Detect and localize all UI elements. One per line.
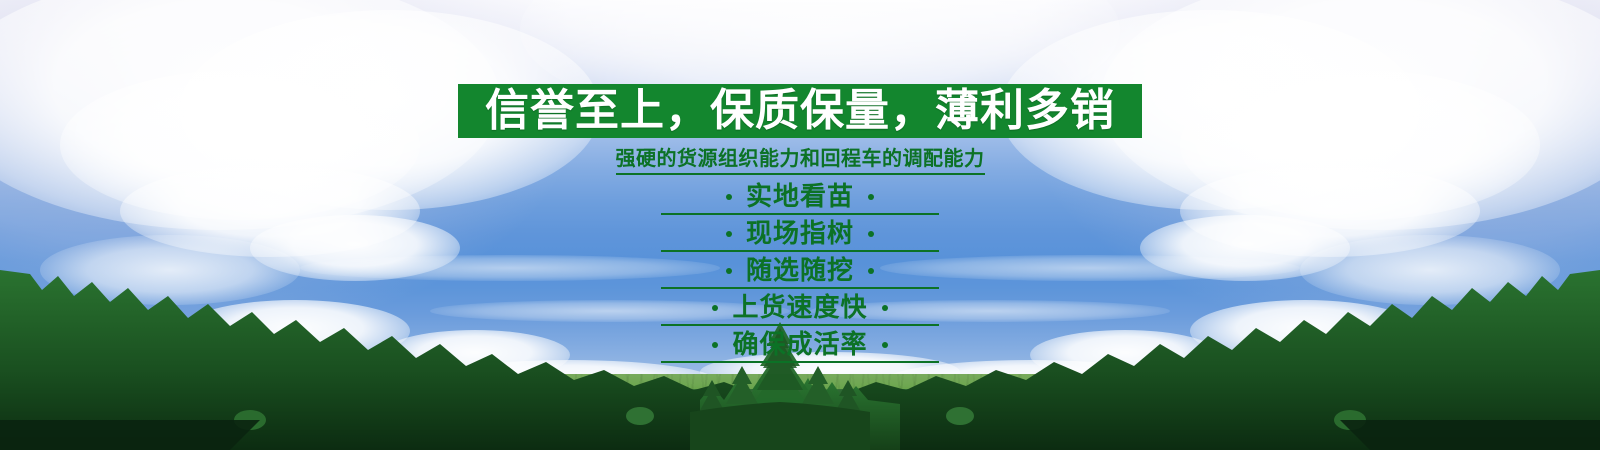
feature-item: 现场指树 [0,215,1600,252]
bullet-dot-icon [726,231,732,237]
feature-item: 上货速度快 [0,289,1600,326]
bullet-dot-icon [882,305,888,311]
feature-label: 确保成活率 [732,332,867,358]
bullet-dot-icon [712,342,718,348]
bullet-dot-icon [868,194,874,200]
subheadline-text: 强硬的货源组织能力和回程车的调配能力 [616,146,985,175]
subheadline: 强硬的货源组织能力和回程车的调配能力 [0,146,1600,175]
feature-label: 随选随挖 [746,258,854,284]
bullet-dot-icon [868,231,874,237]
bullet-dot-icon [726,268,732,274]
banner-content: 信誉至上，保质保量，薄利多销 强硬的货源组织能力和回程车的调配能力 实地看苗 现… [0,0,1600,450]
headline-text: 信誉至上，保质保量，薄利多销 [485,89,1115,133]
feature-item: 随选随挖 [0,252,1600,289]
feature-label: 实地看苗 [746,184,854,210]
feature-list: 实地看苗 现场指树 随选随挖 [0,178,1600,363]
bullet-dot-icon [726,194,732,200]
promo-banner: 信誉至上，保质保量，薄利多销 强硬的货源组织能力和回程车的调配能力 实地看苗 现… [0,0,1600,450]
feature-label: 上货速度快 [732,295,867,321]
feature-item: 确保成活率 [0,326,1600,363]
feature-divider [661,361,939,363]
headline-bar: 信誉至上，保质保量，薄利多销 [458,84,1142,138]
bullet-dot-icon [712,305,718,311]
feature-item: 实地看苗 [0,178,1600,215]
bullet-dot-icon [868,268,874,274]
bullet-dot-icon [882,342,888,348]
feature-label: 现场指树 [746,221,854,247]
